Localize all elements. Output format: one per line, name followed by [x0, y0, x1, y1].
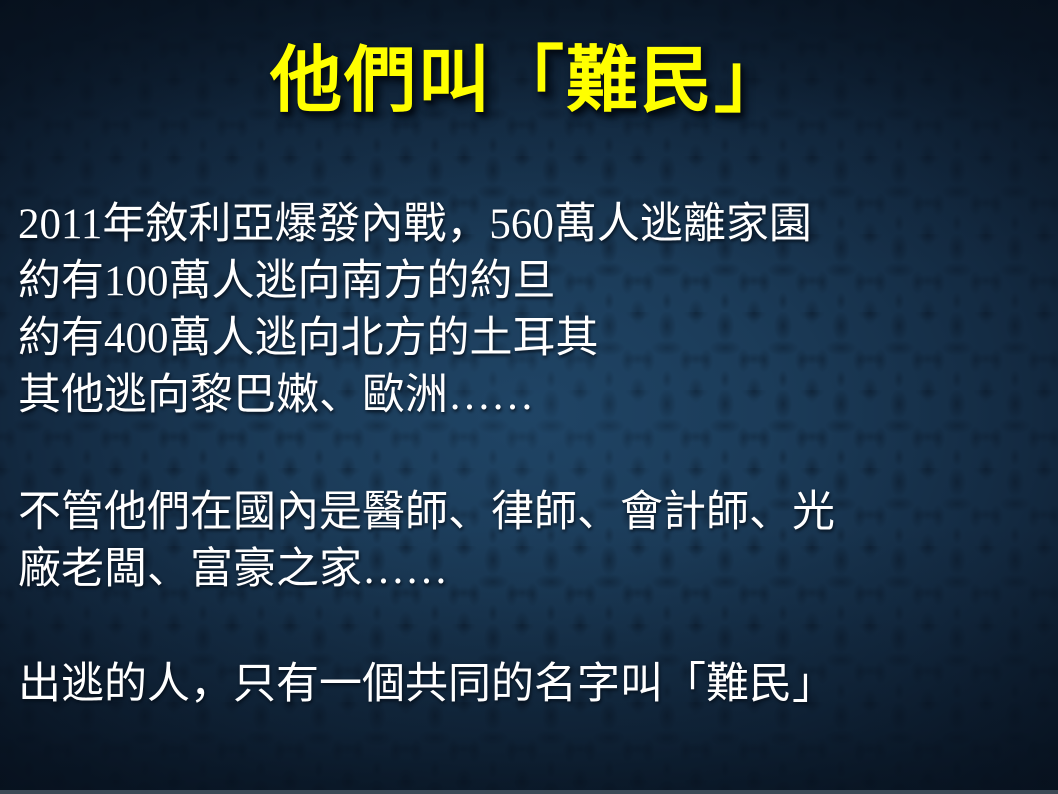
slide-title: 他們叫「難民」 [0, 44, 1058, 116]
paragraph-1-line-1: 2011年敘利亞爆發內戰，560萬人逃離家園 [18, 196, 1046, 253]
paragraph-2-line-1: 不管他們在國內是醫師、律師、會計師、光 [18, 484, 1046, 541]
presentation-slide: 他們叫「難民」 2011年敘利亞爆發內戰，560萬人逃離家園 約有100萬人逃向… [0, 0, 1058, 794]
paragraph-1: 2011年敘利亞爆發內戰，560萬人逃離家園 約有100萬人逃向南方的約旦 約有… [18, 196, 1046, 424]
paragraph-1-line-3: 約有400萬人逃向北方的土耳其 [18, 310, 1046, 367]
paragraph-1-line-2: 約有100萬人逃向南方的約旦 [18, 253, 1046, 310]
slide-content: 他們叫「難民」 2011年敘利亞爆發內戰，560萬人逃離家園 約有100萬人逃向… [0, 0, 1058, 794]
paragraph-3: 出逃的人，只有一個共同的名字叫「難民」 [18, 656, 1046, 713]
paragraph-3-line-1: 出逃的人，只有一個共同的名字叫「難民」 [18, 656, 1046, 713]
paragraph-2-line-2: 廠老闆、富豪之家…… [18, 541, 1046, 598]
paragraph-1-line-4: 其他逃向黎巴嫩、歐洲…… [18, 367, 1046, 424]
paragraph-2: 不管他們在國內是醫師、律師、會計師、光 廠老闆、富豪之家…… [18, 484, 1046, 598]
